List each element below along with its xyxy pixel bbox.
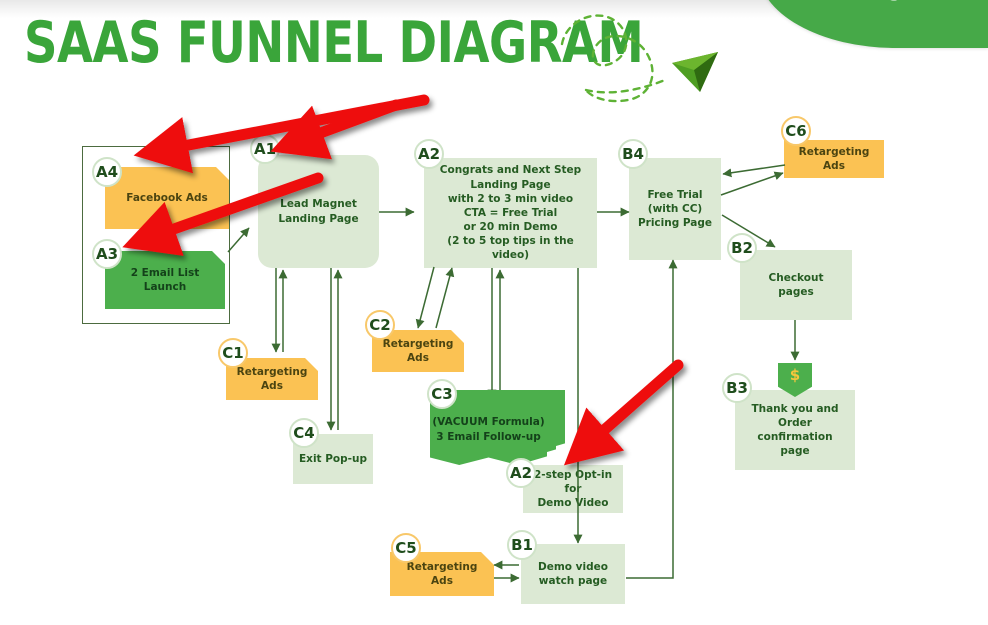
red-annotation-arrows [0, 0, 988, 625]
diagram-canvas: SAAS FUNNEL DIAGRAM autogrow.co [0, 0, 988, 625]
red-arrow-to-A2b [578, 365, 678, 453]
red-arrow-to-A3 [140, 178, 318, 241]
